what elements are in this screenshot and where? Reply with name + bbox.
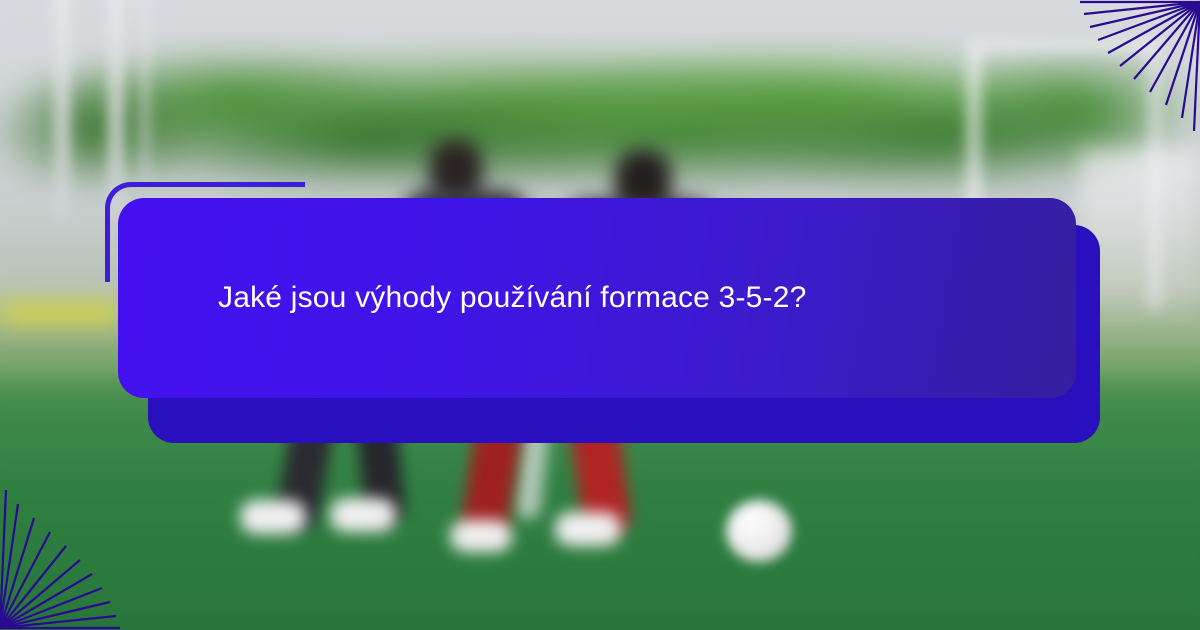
share-card-image: Jaké jsou výhody používání formace 3-5-2…: [0, 0, 1200, 630]
question-text: Jaké jsou výhody používání formace 3-5-2…: [118, 279, 867, 317]
question-card: Jaké jsou výhody používání formace 3-5-2…: [118, 198, 1076, 398]
